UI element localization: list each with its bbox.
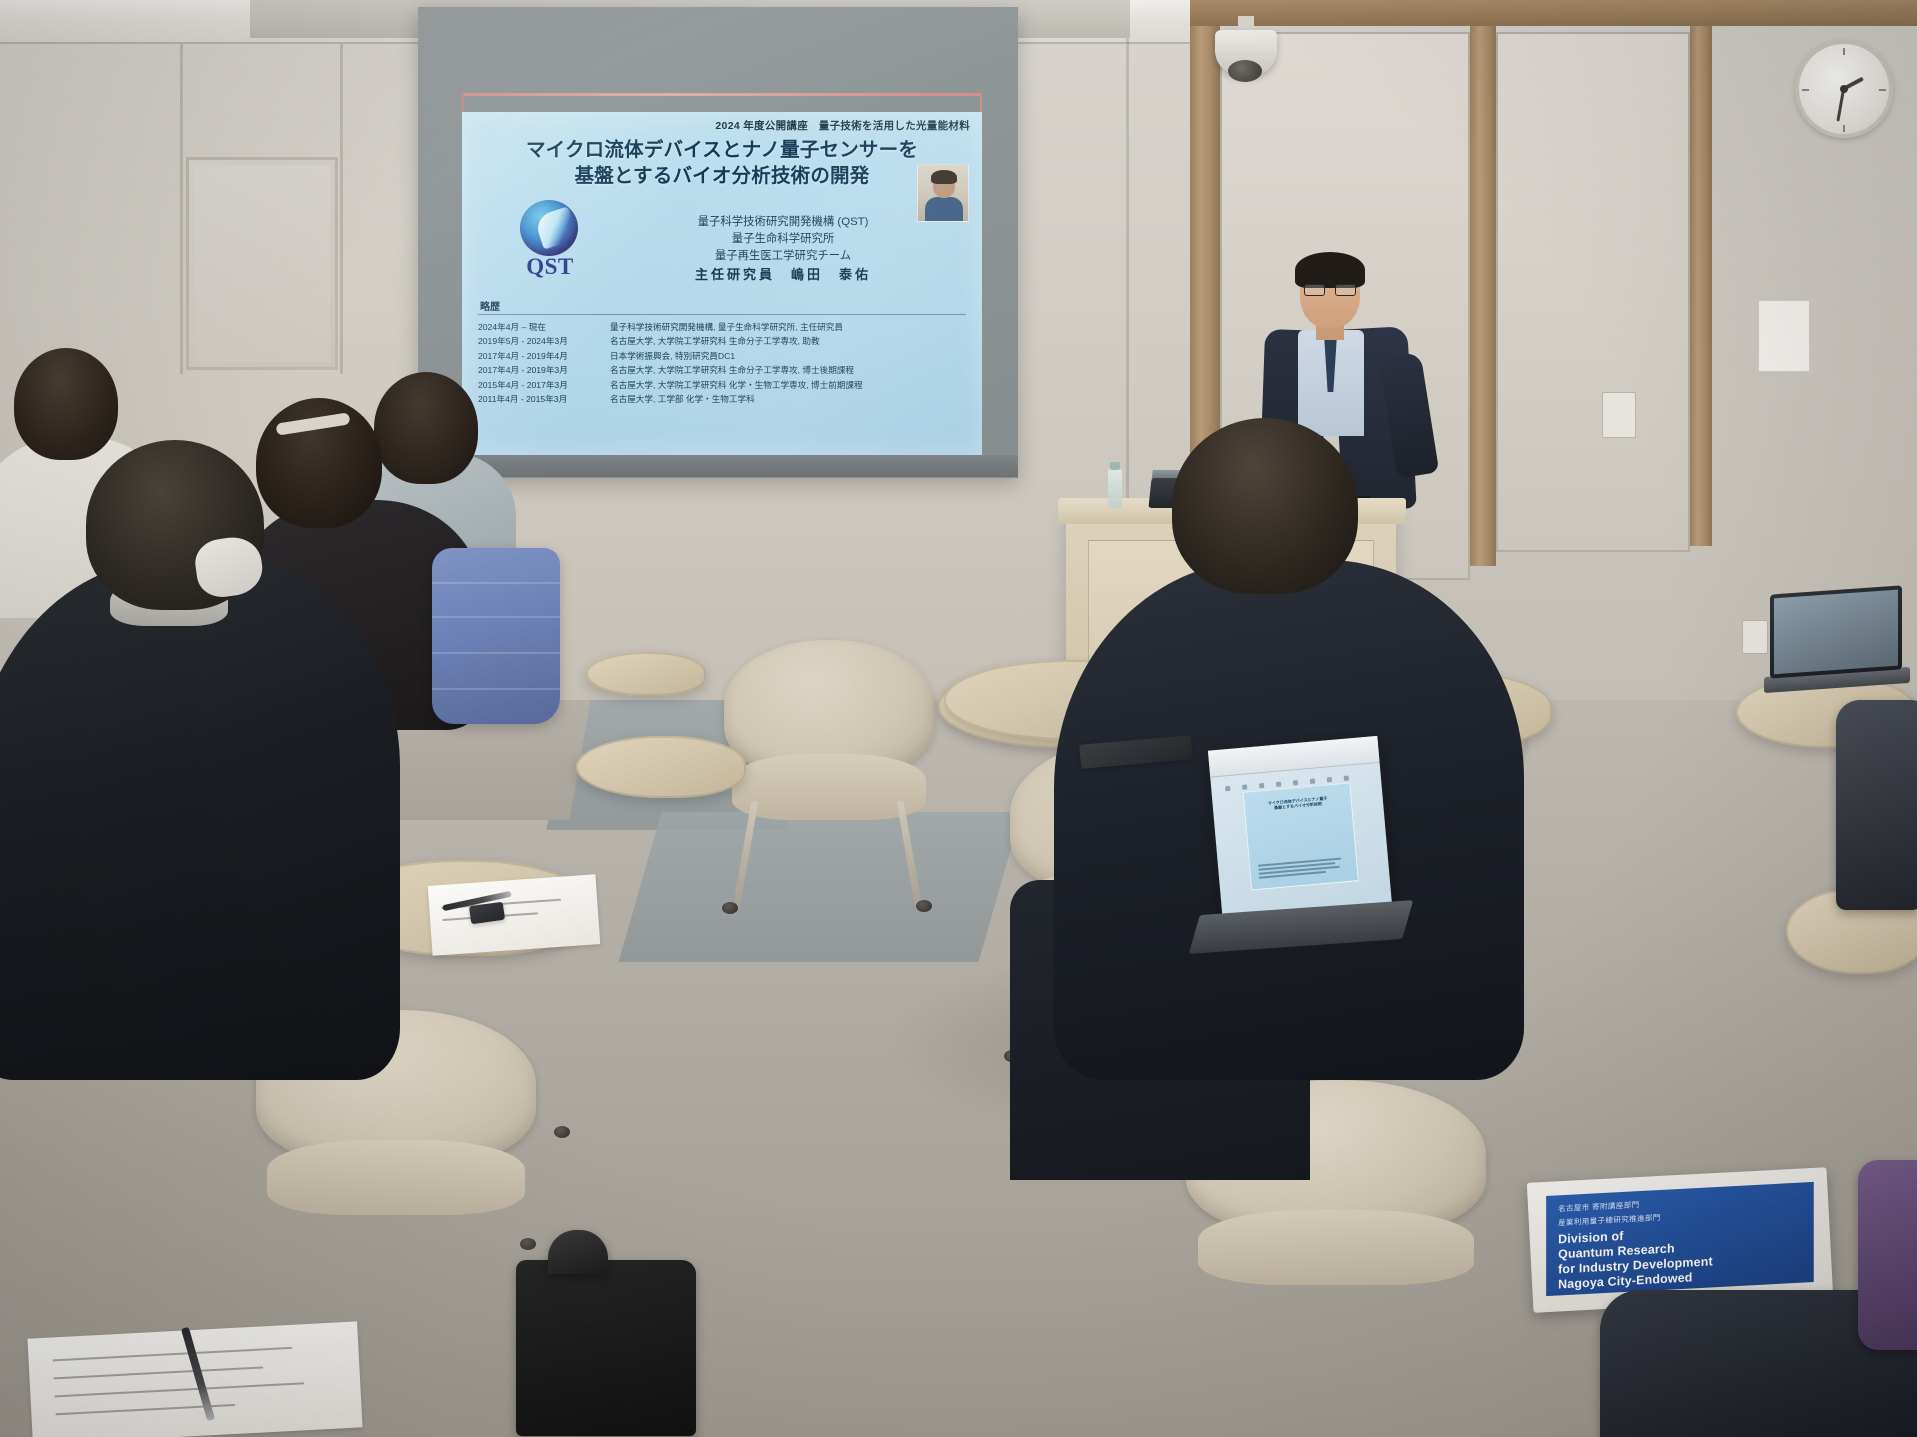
bio-date: 2019年5月 - 2024年3月	[478, 334, 602, 348]
qst-logo-text: QST	[512, 254, 588, 280]
wall-seam-left	[180, 44, 183, 374]
door-header-trim	[1190, 0, 1917, 26]
bio-date: 2017年4月 - 2019年3月	[478, 363, 602, 377]
qst-swoosh-icon	[534, 206, 579, 249]
slide-kicker: 2024 年度公開講座 量子技術を活用した光量能材料	[715, 118, 970, 133]
slide-presenter-name: 主任研究員 嶋田 泰佑	[658, 264, 908, 283]
light-switch-panel[interactable]	[1602, 392, 1636, 438]
portrait-body	[925, 197, 963, 222]
presentation-app-toolbar[interactable]	[1208, 736, 1380, 778]
org-line-1: 量子科学技術研究開発機構 (QST)	[658, 214, 908, 231]
bio-description: 名古屋大学, 工学部 化学・生物工学科	[610, 392, 974, 406]
bio-row: 2011年4月 - 2015年3月 名古屋大学, 工学部 化学・生物工学科	[478, 392, 974, 406]
slide-title: マイクロ流体デバイスとナノ量子センサーを 基盤とするバイオ分析技術の開発	[462, 138, 982, 190]
slide-organization: 量子科学技術研究開発機構 (QST) 量子生命科学研究所 量子再生医工学研究チー…	[658, 214, 908, 265]
attendee-laptop[interactable]: マイクロ流体デバイスとナノ量子 基盤とするバイオ分析技術	[1200, 740, 1390, 970]
qst-globe-icon	[520, 200, 578, 256]
org-line-2: 量子生命科学研究所	[658, 231, 908, 248]
laptop-slide-thumbnail[interactable]: マイクロ流体デバイスとナノ量子 基盤とするバイオ分析技術	[1242, 783, 1359, 891]
qst-logo-icon: QST	[512, 200, 588, 278]
wall-panel-left-inner	[194, 165, 330, 362]
chair-caster	[520, 1238, 536, 1250]
wall-seam-center	[1126, 38, 1129, 508]
laptop-display: マイクロ流体デバイスとナノ量子 基盤とするバイオ分析技術	[1208, 736, 1392, 920]
bio-row: 2024年4月 – 現在 量子科学技術研究開発機構, 量子生命科学研究所, 主任…	[478, 320, 974, 334]
bio-description: 名古屋大学, 大学院工学研究科 化学・生物工学専攻, 博士前期課程	[610, 378, 974, 392]
bio-description: 量子科学技術研究開発機構, 量子生命科学研究所, 主任研究員	[610, 320, 974, 334]
door-panel-right[interactable]	[1496, 32, 1690, 552]
shoulder-bag	[516, 1260, 696, 1436]
door-frame-center	[1470, 26, 1496, 566]
bio-date: 2011年4月 - 2015年3月	[478, 392, 602, 406]
water-bottle-cap	[1110, 462, 1120, 470]
portrait-hair	[931, 170, 957, 184]
placard-blue-label: 名古屋市 寄附講座部門 産業利用量子線研究推進部門 Division of Qu…	[1546, 1182, 1814, 1296]
side-laptop-display	[1774, 590, 1898, 675]
side-table-laptop[interactable]	[1770, 590, 1902, 696]
projection-screen-bottom-bar	[418, 455, 1018, 477]
wall-seam-left-2	[340, 44, 343, 374]
bio-description: 名古屋大学, 大学院工学研究科 生命分子工学専攻, 博士後期課程	[610, 363, 974, 377]
laptop-screen[interactable]: マイクロ流体デバイスとナノ量子 基盤とするバイオ分析技術	[1205, 733, 1396, 924]
glasses-icon	[1304, 284, 1356, 296]
slide-top-rule	[462, 93, 982, 96]
tablet-desk	[586, 652, 706, 696]
presentation-slide: 2024 年度公開講座 量子技術を活用した光量能材料 マイクロ流体デバイスとナノ…	[462, 112, 982, 455]
door-frame-right	[1690, 26, 1712, 546]
wall-panel-left	[186, 157, 338, 370]
wall-outlet[interactable]	[1742, 620, 1768, 654]
slide-title-line-1: マイクロ流体デバイスとナノ量子センサーを	[462, 138, 982, 164]
chair-caster	[554, 1126, 570, 1138]
bio-date: 2015年4月 - 2017年3月	[478, 378, 602, 392]
lecture-hall-photo: 2024 年度公開講座 量子技術を活用した光量能材料 マイクロ流体デバイスとナノ…	[0, 0, 1917, 1437]
bio-date: 2024年4月 – 現在	[478, 320, 602, 334]
chair-caster	[722, 902, 738, 914]
slide-rule-right-tick	[980, 93, 982, 113]
right-attendee-head	[1172, 418, 1358, 594]
ceiling-camera-lens-icon	[1228, 60, 1262, 82]
foreground-attendee-body	[0, 560, 400, 1080]
blue-puffer-coat	[432, 548, 560, 724]
wall-clock-icon	[1795, 40, 1893, 138]
org-line-3: 量子再生医工学研究チーム	[658, 248, 908, 265]
bio-description: 日本学術振興会, 特別研究員DC1	[610, 349, 974, 363]
speaker-portrait-photo	[917, 164, 969, 222]
bio-divider	[478, 314, 966, 315]
laptop-slide-body-lines	[1258, 857, 1349, 881]
presenter-hair	[1295, 252, 1365, 288]
bio-row: 2017年4月 - 2019年4月 日本学術振興会, 特別研究員DC1	[478, 349, 974, 363]
bag-handle	[548, 1230, 608, 1274]
bio-row: 2015年4月 - 2017年3月 名古屋大学, 大学院工学研究科 化学・生物工…	[478, 378, 974, 392]
side-laptop-screen[interactable]	[1770, 585, 1902, 678]
purple-bag	[1858, 1160, 1917, 1350]
bio-heading: 略歴	[480, 298, 500, 313]
bio-row: 2019年5月 - 2024年3月 名古屋大学, 大学院工学研究科 生命分子工学…	[478, 334, 974, 348]
bio-row: 2017年4月 - 2019年3月 名古屋大学, 大学院工学研究科 生命分子工学…	[478, 363, 974, 377]
far-right-attendee	[1836, 700, 1917, 910]
chair-caster	[916, 900, 932, 912]
bio-description: 名古屋大学, 大学院工学研究科 生命分子工学専攻, 助教	[610, 334, 974, 348]
slide-rule-left-tick	[462, 93, 464, 113]
bio-table: 2024年4月 – 現在 量子科学技術研究開発機構, 量子生命科学研究所, 主任…	[478, 320, 974, 407]
tablet-desk	[576, 736, 746, 798]
wall-notice	[1758, 300, 1810, 372]
handout-paper	[428, 874, 600, 956]
bio-date: 2017年4月 - 2019年4月	[478, 349, 602, 363]
water-bottle	[1108, 468, 1122, 508]
laptop-slide-title: マイクロ流体デバイスとナノ量子 基盤とするバイオ分析技術	[1251, 794, 1346, 813]
audience-member-head	[14, 348, 118, 460]
audience-member-head	[374, 372, 478, 484]
slide-title-line-2: 基盤とするバイオ分析技術の開発	[462, 164, 982, 190]
